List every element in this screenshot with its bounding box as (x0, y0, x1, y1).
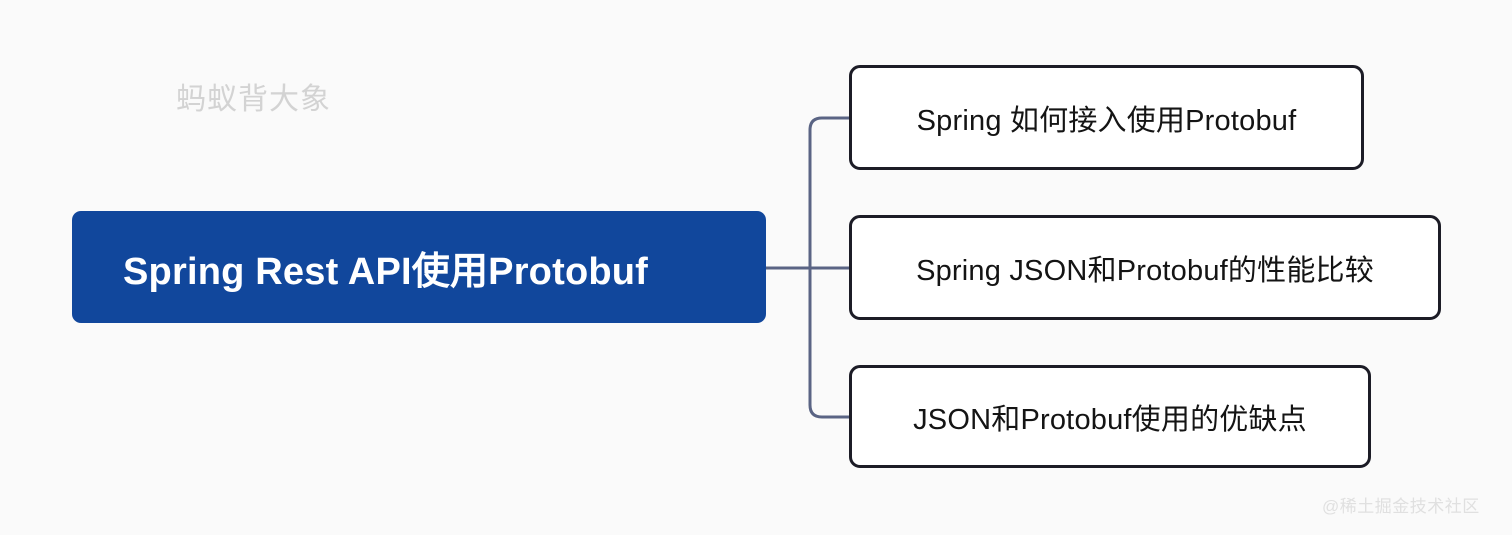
mindmap-child-node-3[interactable]: JSON和Protobuf使用的优缺点 (849, 365, 1371, 468)
watermark-bottom-right: @稀土掘金技术社区 (1322, 492, 1480, 517)
connector-branch-3 (810, 268, 849, 417)
mindmap-child-label-2: Spring JSON和Protobuf的性能比较 (916, 247, 1374, 289)
mindmap-canvas: 蚂蚁背大象 Spring Rest API使用Protobuf Spring 如… (0, 0, 1512, 535)
mindmap-child-node-2[interactable]: Spring JSON和Protobuf的性能比较 (849, 215, 1441, 320)
mindmap-child-label-1: Spring 如何接入使用Protobuf (917, 97, 1297, 139)
mindmap-child-node-1[interactable]: Spring 如何接入使用Protobuf (849, 65, 1364, 170)
mindmap-child-label-3: JSON和Protobuf使用的优缺点 (913, 396, 1307, 438)
mindmap-root-node[interactable]: Spring Rest API使用Protobuf (72, 211, 766, 323)
mindmap-root-label: Spring Rest API使用Protobuf (123, 240, 648, 295)
connector-branch-1 (810, 118, 849, 268)
watermark-top-left: 蚂蚁背大象 (176, 74, 331, 118)
